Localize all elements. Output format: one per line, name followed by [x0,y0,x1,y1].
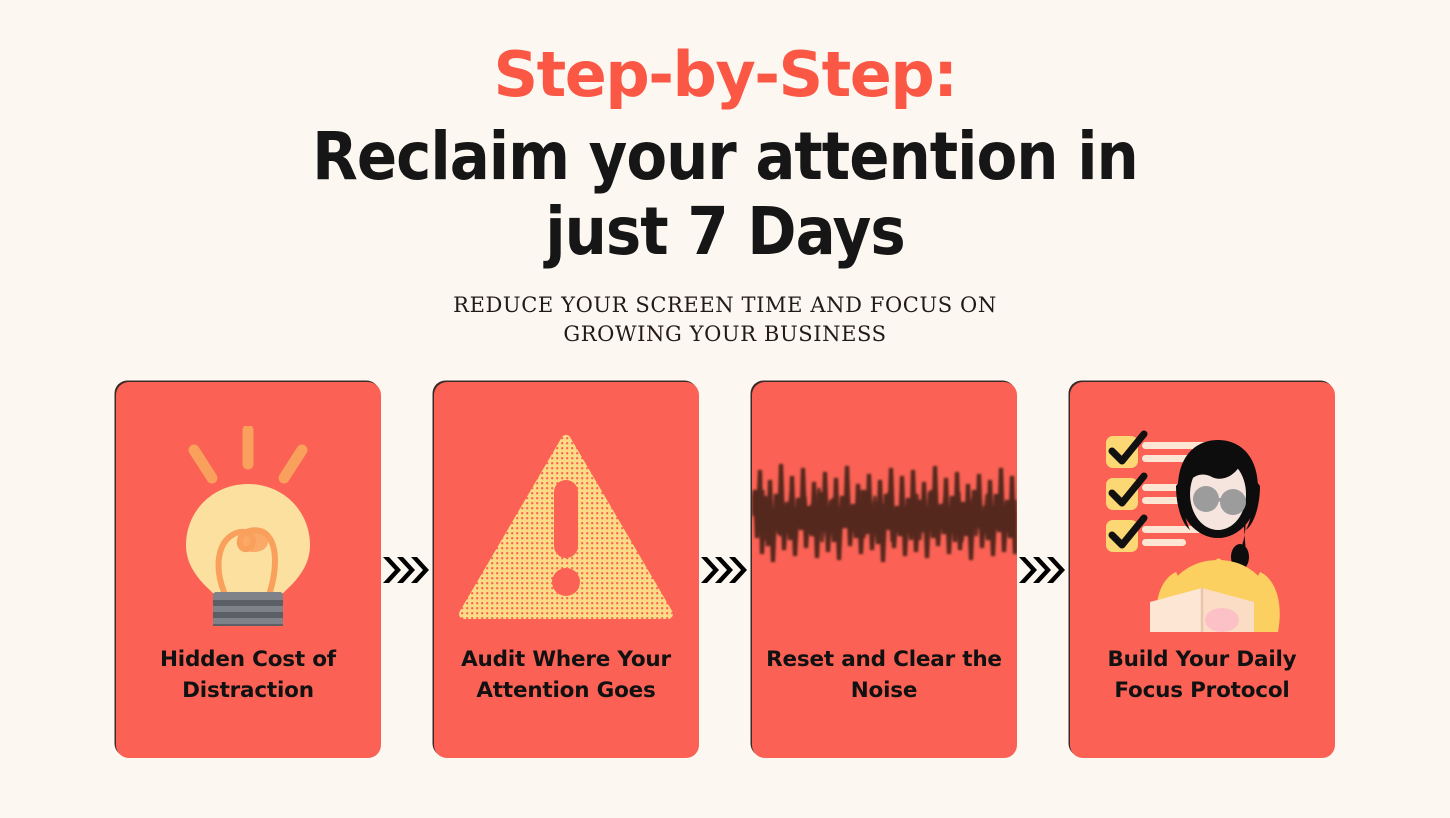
person-reading [1150,440,1280,632]
step-3-label: Reset and Clear the Noise [752,644,1017,707]
lightbulb-icon [168,426,328,631]
step-1-artwork [116,382,381,632]
chevrons-right-icon [1017,555,1070,585]
page-title: Reclaim your attention in just 7 Days [275,120,1175,269]
warning-triangle-icon [456,432,676,627]
title-eyebrow: Step-by-Step: [0,44,1450,106]
page-subtitle: REDUCE YOUR SCREEN TIME AND FOCUS ON GRO… [415,291,1035,349]
step-card-3[interactable]: Reset and Clear the Noise [752,382,1017,758]
step-4-label: Build Your Daily Focus Protocol [1070,644,1335,707]
step-1-label: Hidden Cost of Distraction [116,644,381,707]
header: Step-by-Step: Reclaim your attention in … [0,0,1450,349]
step-card-4[interactable]: Build Your Daily Focus Protocol [1070,382,1335,758]
steps-row: Hidden Cost of Distraction [0,381,1450,759]
step-card-1[interactable]: Hidden Cost of Distraction [116,382,381,758]
chevrons-right-icon [699,555,752,585]
checklist-person-icon [1070,382,1335,632]
step-2-artwork [434,382,699,632]
step-3-artwork [752,382,1017,632]
step-2-label: Audit Where Your Attention Goes [434,644,699,707]
step-card-2[interactable]: Audit Where Your Attention Goes [434,382,699,758]
step-4-artwork [1070,382,1335,632]
chevrons-right-icon [381,555,434,585]
noise-waveform-icon [752,450,1017,580]
